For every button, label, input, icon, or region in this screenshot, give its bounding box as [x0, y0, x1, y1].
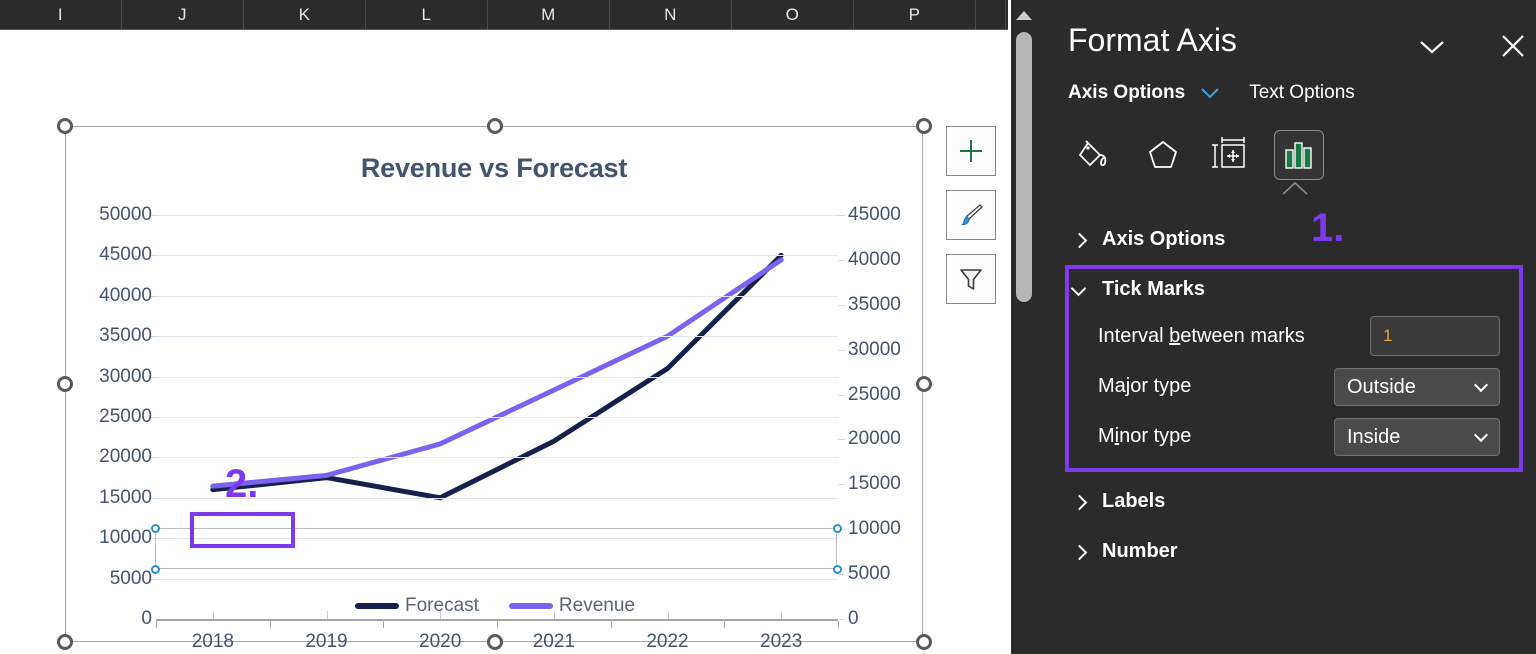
chart-resize-handle-top-left[interactable]	[57, 118, 73, 134]
y-axis-label-left: 15000	[42, 487, 152, 509]
chart-resize-handle-middle-right[interactable]	[916, 376, 932, 392]
y-axis-tick-right	[838, 395, 845, 396]
pane-title: Format Axis	[1068, 22, 1237, 59]
section-tick-marks[interactable]: Tick Marks	[1072, 278, 1205, 301]
chevron-right-icon	[1072, 544, 1088, 560]
y-axis-tick-right	[838, 305, 845, 306]
y-axis-label-right: 25000	[848, 384, 958, 406]
y-axis-label-left: 40000	[42, 285, 152, 307]
pane-icon-tabs	[1070, 130, 1324, 180]
chart-object[interactable]: Revenue vs Forecast 50000450004000035000…	[65, 126, 923, 642]
chart-resize-handle-bottom-right[interactable]	[916, 634, 932, 650]
gridline	[156, 296, 838, 297]
x-axis-label: 2023	[736, 631, 826, 653]
gridline	[156, 255, 838, 256]
y-axis-tick-right	[838, 574, 845, 575]
chart-title[interactable]: Revenue vs Forecast	[66, 153, 922, 184]
vertical-scrollbar[interactable]	[1008, 0, 1040, 654]
major-type-label: Major type	[1098, 375, 1191, 397]
y-axis-label-left: 50000	[42, 204, 152, 226]
y-axis-label-right: 5000	[848, 563, 958, 585]
y-axis-label-left: 45000	[42, 244, 152, 266]
y-axis-label-right: 30000	[848, 339, 958, 361]
interval-between-marks-input[interactable]: 1	[1370, 316, 1500, 356]
chart-styles-button[interactable]	[946, 190, 996, 240]
y-axis-tick-right	[838, 439, 845, 440]
major-tick-outside	[838, 621, 839, 628]
series-line-revenue[interactable]	[213, 260, 781, 486]
gridline	[156, 215, 838, 216]
excel-chart-format-axis-screen: IJKLMNOP Revenue vs Forecast 50000450004…	[0, 0, 1536, 654]
section-tick-marks-label: Tick Marks	[1102, 278, 1205, 301]
gridline	[156, 417, 838, 418]
y-axis-tick-right	[838, 350, 845, 351]
axis-handle-right-top[interactable]	[833, 524, 842, 533]
axis-options-tab[interactable]	[1274, 130, 1324, 180]
size-and-properties-tab[interactable]	[1206, 130, 1256, 180]
axis-options-icon	[1281, 138, 1317, 172]
funnel-icon	[956, 264, 986, 294]
pane-collapse-button[interactable]	[1412, 30, 1452, 64]
axis-handle-left-top[interactable]	[151, 524, 160, 533]
major-tick-outside	[497, 621, 498, 628]
x-axis-label: 2021	[509, 631, 599, 653]
column-header-partial[interactable]	[976, 0, 1006, 29]
major-tick-outside	[383, 621, 384, 628]
minor-type-label: Minor type	[1098, 425, 1191, 447]
chart-resize-handle-top-right[interactable]	[916, 118, 932, 134]
pane-tab-row: Axis Options Text Options	[1068, 82, 1355, 104]
chart-side-buttons	[946, 126, 996, 304]
axis-options-chevron-down-icon[interactable]	[1199, 86, 1221, 100]
x-axis-label: 2019	[282, 631, 372, 653]
chart-elements-button[interactable]	[946, 126, 996, 176]
chart-resize-handle-middle-left[interactable]	[57, 376, 73, 392]
y-axis-tick-right	[838, 260, 845, 261]
column-header-M[interactable]: M	[488, 0, 610, 29]
x-axis-label: 2018	[168, 631, 258, 653]
major-type-value: Outside	[1347, 376, 1416, 399]
y-axis-label-left: 5000	[42, 568, 152, 590]
y-axis-tick-right	[838, 619, 845, 620]
section-number[interactable]: Number	[1072, 540, 1178, 563]
chart-resize-handle-bottom-center[interactable]	[487, 634, 503, 650]
tab-text-options[interactable]: Text Options	[1249, 82, 1355, 104]
y-axis-tick-right	[838, 215, 845, 216]
y-axis-tick-right	[838, 484, 845, 485]
fill-and-line-tab[interactable]	[1070, 130, 1120, 180]
column-header-N[interactable]: N	[610, 0, 732, 29]
y-axis-label-left: 25000	[42, 406, 152, 428]
selected-tab-caret-icon	[1278, 180, 1312, 201]
column-header-O[interactable]: O	[732, 0, 854, 29]
section-axis-options[interactable]: Axis Options	[1072, 228, 1225, 251]
axis-handle-left-bottom[interactable]	[151, 565, 160, 574]
gridline	[156, 336, 838, 337]
chart-resize-handle-top-center[interactable]	[487, 118, 503, 134]
section-labels[interactable]: Labels	[1072, 490, 1165, 513]
scrollbar-edge	[1008, 0, 1011, 654]
chevron-down-icon	[1475, 431, 1487, 443]
column-header-J[interactable]: J	[122, 0, 244, 29]
y-axis-label-right: 35000	[848, 294, 958, 316]
scrollbar-thumb[interactable]	[1016, 32, 1032, 302]
paintbrush-icon	[956, 200, 986, 230]
legend-swatch	[355, 603, 399, 609]
major-type-row: Major type	[1098, 375, 1191, 398]
y-axis-label-right: 40000	[848, 249, 958, 271]
x-axis-label: 2020	[395, 631, 485, 653]
minor-type-value: Inside	[1347, 426, 1400, 449]
legend-swatch	[509, 603, 553, 609]
interval-between-marks-row: Interval between marks	[1098, 325, 1305, 348]
interval-between-marks-label: Interval between marks	[1098, 325, 1305, 347]
chart-resize-handle-bottom-left[interactable]	[57, 634, 73, 650]
gridline	[156, 538, 838, 539]
minor-type-select[interactable]: Inside	[1334, 418, 1500, 456]
legend-item[interactable]: Revenue	[509, 595, 635, 617]
column-header-I[interactable]: I	[0, 0, 122, 29]
major-tick-outside	[724, 621, 725, 628]
legend-label: Revenue	[559, 595, 635, 617]
chevron-right-icon	[1072, 494, 1088, 510]
y-axis-label-left: 20000	[42, 446, 152, 468]
fill-icon	[1075, 135, 1115, 175]
chevron-down-icon	[1475, 381, 1487, 393]
major-tick-outside	[270, 621, 271, 628]
y-axis-label-right: 10000	[848, 518, 958, 540]
y-axis-label-right: 45000	[848, 204, 958, 226]
close-icon	[1500, 33, 1526, 59]
annotation-number-1: 1.	[1311, 206, 1344, 251]
annotation-number-2: 2.	[225, 462, 258, 507]
gridline	[156, 457, 838, 458]
effects-tab[interactable]	[1138, 130, 1188, 180]
section-axis-options-label: Axis Options	[1102, 228, 1225, 251]
y-axis-label-left: 10000	[42, 527, 152, 549]
size-properties-icon	[1210, 135, 1252, 175]
scroll-up-arrow-icon[interactable]	[1008, 2, 1040, 28]
interval-value: 1	[1383, 326, 1392, 346]
section-labels-label: Labels	[1102, 490, 1165, 513]
column-header-K[interactable]: K	[244, 0, 366, 29]
major-type-select[interactable]: Outside	[1334, 368, 1500, 406]
y-axis-label-left: 35000	[42, 325, 152, 347]
series-lines	[156, 215, 838, 654]
column-header-L[interactable]: L	[366, 0, 488, 29]
axis-handle-right-bottom[interactable]	[833, 565, 842, 574]
pane-close-button[interactable]	[1495, 28, 1531, 64]
minor-type-row: Minor type	[1098, 425, 1191, 448]
major-tick-outside	[611, 621, 612, 628]
section-number-label: Number	[1102, 540, 1178, 563]
gridline	[156, 377, 838, 378]
legend-item[interactable]: Forecast	[355, 595, 479, 617]
chevron-right-icon	[1072, 232, 1088, 248]
legend-label: Forecast	[405, 595, 479, 617]
chart-filters-button[interactable]	[946, 254, 996, 304]
x-axis-label: 2022	[623, 631, 713, 653]
chevron-down-icon	[1072, 282, 1088, 298]
plus-icon	[956, 136, 986, 166]
y-axis-label-right: 20000	[848, 428, 958, 450]
chevron-down-icon	[1415, 37, 1449, 57]
plot-area[interactable]: 5000045000400003500030000250002000015000…	[156, 215, 838, 654]
tab-axis-options[interactable]: Axis Options	[1068, 82, 1185, 104]
effects-icon	[1143, 135, 1183, 175]
y-axis-label-right: 15000	[848, 473, 958, 495]
major-tick-outside	[156, 621, 157, 628]
column-header-P[interactable]: P	[854, 0, 976, 29]
column-header-row: IJKLMNOP	[0, 0, 1008, 30]
gridline	[156, 579, 838, 580]
chart-legend[interactable]: ForecastRevenue	[66, 595, 924, 617]
